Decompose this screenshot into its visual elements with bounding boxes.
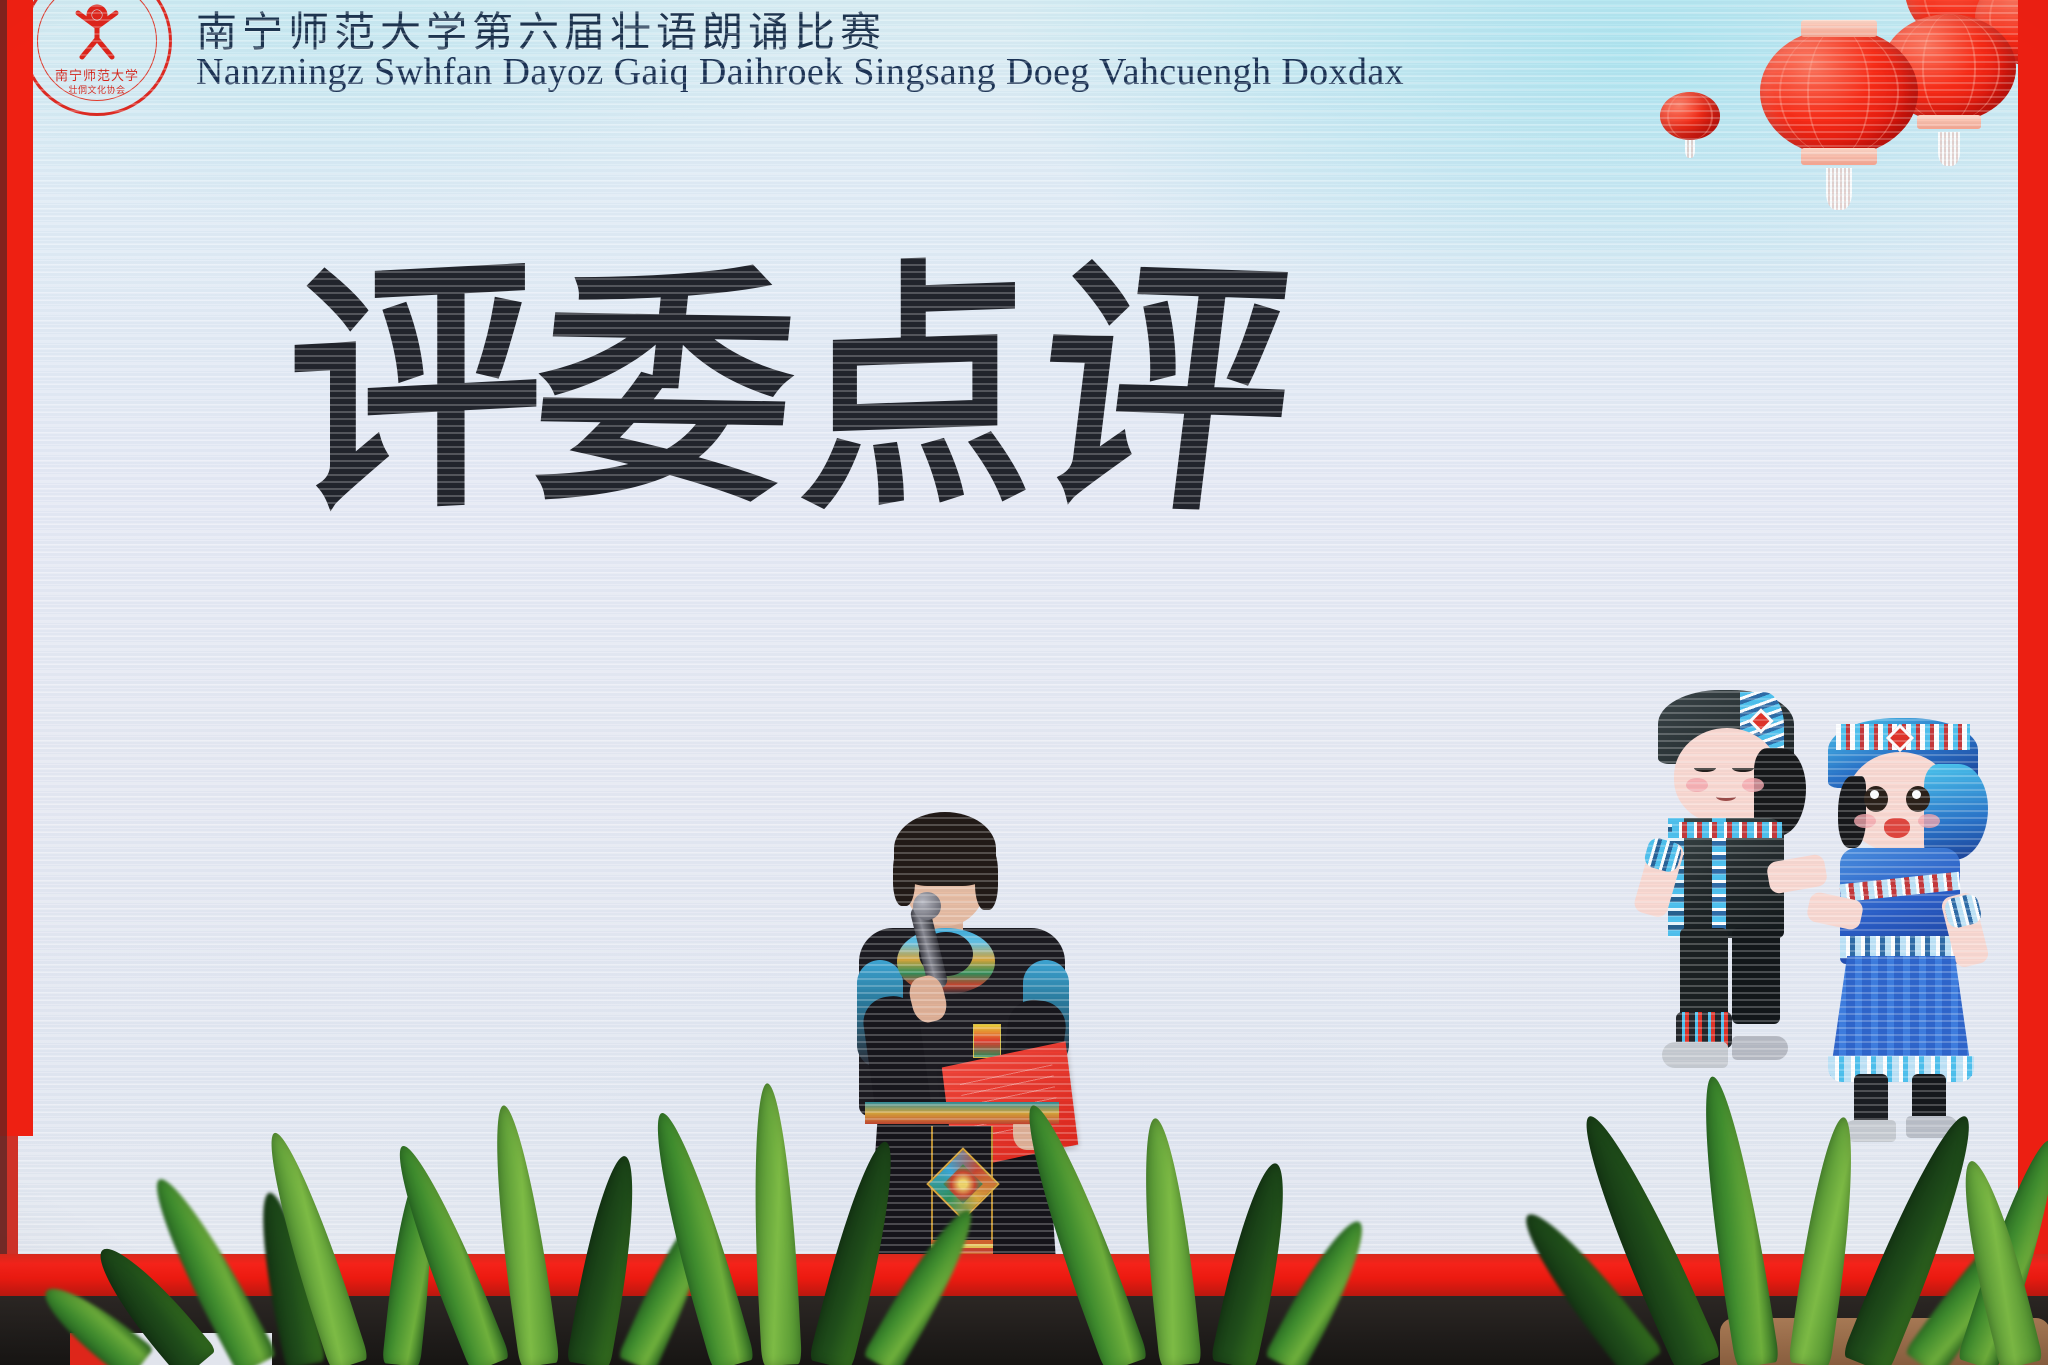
led-screen: NANZNINGZ SWHFAN DAYOZ 南宁师范大学 壮侗文化协会 南宁师… xyxy=(0,0,2048,1272)
stage-frame-right xyxy=(2018,0,2048,1272)
stage-lower-light-patch xyxy=(112,1333,272,1365)
led-scanlines-fine xyxy=(0,0,2048,1272)
stage-frame-right-shadow xyxy=(0,0,7,1272)
stage-trim-band xyxy=(0,1254,2048,1298)
photo-scene: NANZNINGZ SWHFAN DAYOZ 南宁师范大学 壮侗文化协会 南宁师… xyxy=(0,0,2048,1365)
planter-pot xyxy=(1720,1318,2048,1365)
